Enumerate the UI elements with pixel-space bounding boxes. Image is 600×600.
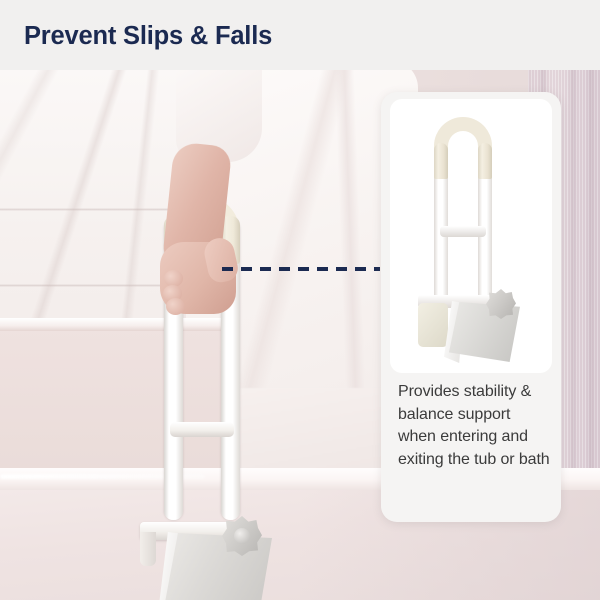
- grab-bar-knob-hub: [234, 528, 250, 544]
- knuckle: [166, 298, 185, 315]
- product-cross-brace: [440, 226, 486, 237]
- grab-bar-mount-lip: [140, 532, 156, 566]
- product-left-grip: [434, 143, 448, 179]
- product-feature-card: Prevent Slips & Falls: [0, 0, 600, 600]
- header-band: Prevent Slips & Falls: [0, 0, 600, 70]
- page-title: Prevent Slips & Falls: [24, 22, 272, 51]
- product-clamp-pad: [418, 303, 448, 347]
- grab-bar-cross-brace: [170, 422, 234, 437]
- product-inset-card: [390, 99, 552, 373]
- product-right-grip: [478, 143, 492, 179]
- product-tightening-knob: [486, 289, 516, 319]
- panel-caption: Provides stability & balance support whe…: [398, 381, 550, 471]
- callout-dashed-connector: [222, 267, 380, 271]
